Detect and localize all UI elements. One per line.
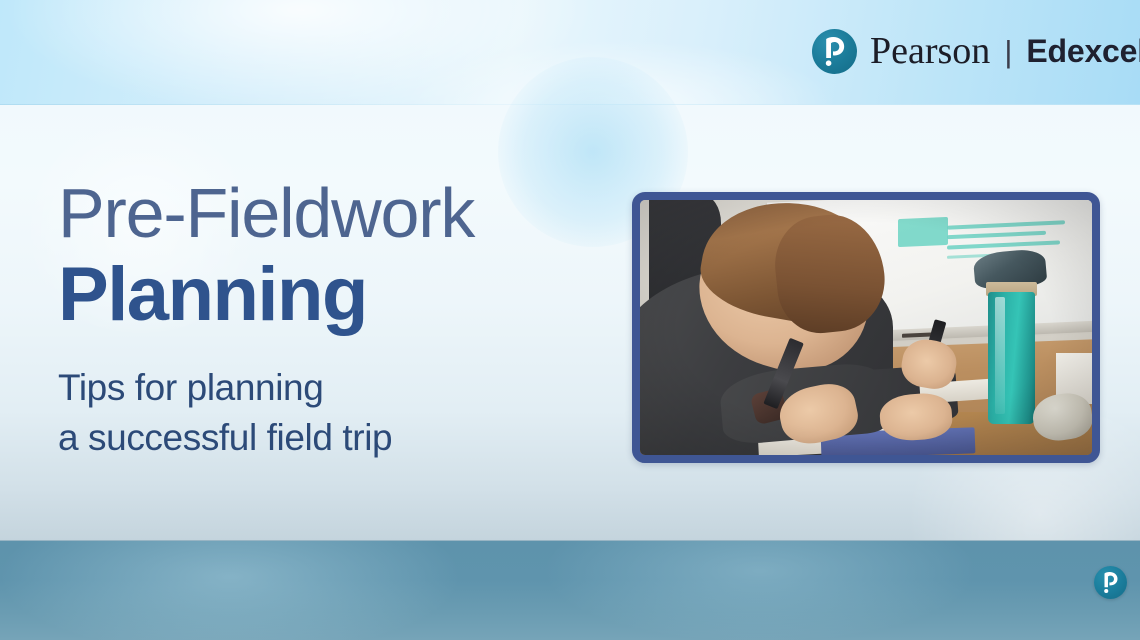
title-block: Pre-Fieldwork Planning Tips for planning… [58,178,618,464]
page-title-line-1: Pre-Fieldwork [58,178,618,248]
pearson-p-icon[interactable] [1094,566,1127,599]
page-subtitle-line-1: Tips for planning [58,363,618,413]
footer-band [0,541,1140,640]
logo-wordmark: Pearson [870,32,990,70]
pearson-edexcel-logo[interactable]: Pearson | Edexcel [812,27,1140,75]
logo-divider: | [1004,36,1012,67]
slide-canvas: Pearson | Edexcel Pre-Fieldwork Planning… [0,0,1140,640]
classroom-photo-image [640,200,1092,455]
page-subtitle: Tips for planning a successful field tri… [58,363,618,464]
classroom-photo [632,192,1100,463]
page-title-line-2: Planning [58,252,618,337]
photo-vignette [640,200,1092,455]
page-subtitle-line-2: a successful field trip [58,413,618,463]
pearson-p-icon [812,29,857,74]
logo-qualification: Edexcel [1026,35,1140,67]
